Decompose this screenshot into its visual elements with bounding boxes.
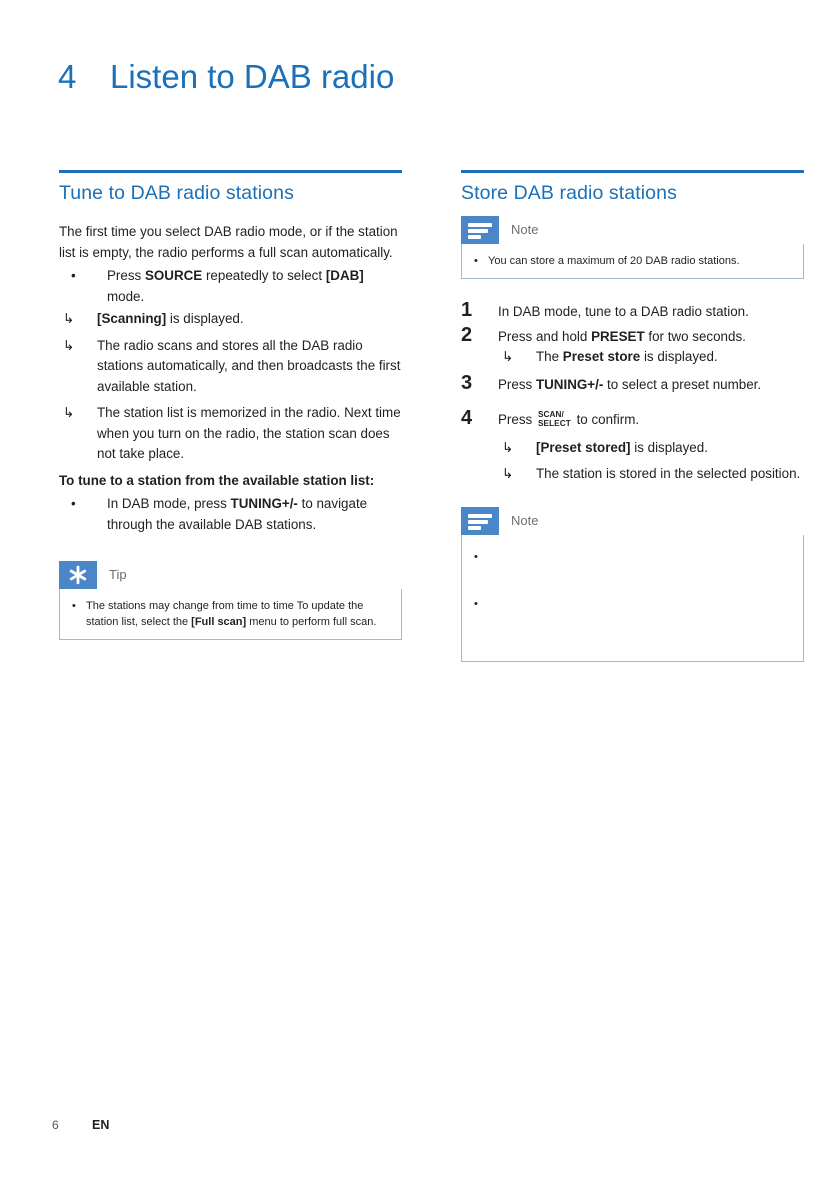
step-text-2: to confirm. <box>573 412 639 427</box>
step-text-1: In DAB mode, tune to a DAB radio station… <box>498 304 749 319</box>
step-text-1: Press and hold <box>498 329 591 344</box>
list-item <box>472 549 793 594</box>
list-item: You can store a maximum of 20 DAB radio … <box>472 253 793 269</box>
list-item: ↳ The station list is memorized in the r… <box>59 403 402 465</box>
list-item: 1 In DAB mode, tune to a DAB radio stati… <box>461 301 804 322</box>
display-scanning: [Scanning] <box>97 311 166 326</box>
scan-select-line-2: SELECT <box>538 419 571 428</box>
step-text-2: to select a preset number. <box>603 377 761 392</box>
note-callout-2-body <box>461 535 804 662</box>
note-item-list <box>472 549 793 641</box>
step-text: Press SCAN/SELECT to confirm. <box>498 409 804 430</box>
arrow-text: is displayed. <box>166 311 243 326</box>
arrow-text: The station list is memorized in the rad… <box>97 405 401 461</box>
intro-paragraph: The first time you select DAB radio mode… <box>59 222 402 263</box>
tip-callout-body: The stations may change from time to tim… <box>59 589 402 640</box>
arrow-marker: ↳ <box>502 464 513 485</box>
list-item: ↳ The station is stored in the selected … <box>498 464 804 485</box>
bullet-text-1: Press <box>107 268 145 283</box>
note-lines-icon <box>461 216 499 244</box>
arrow-text-1: The <box>536 349 563 364</box>
section-rule-right <box>461 170 804 173</box>
arrow-text-1: The station is stored in the selected po… <box>536 466 800 481</box>
bullet-marker: • <box>71 494 76 515</box>
page-number: 6 <box>52 1118 92 1132</box>
note-callout-1: Note You can store a maximum of 20 DAB r… <box>461 216 804 279</box>
chapter-heading: Listen to DAB radio <box>110 54 394 100</box>
store-steps-list: 1 In DAB mode, tune to a DAB radio stati… <box>461 301 804 485</box>
list-item: • In DAB mode, press TUNING+/- to naviga… <box>59 494 402 535</box>
note-callout-2-header: Note <box>461 507 804 535</box>
step-number: 2 <box>461 323 472 347</box>
scan-select-line-1: SCAN/ <box>538 410 571 419</box>
arrow-text: The radio scans and stores all the DAB r… <box>97 338 400 394</box>
language-code: EN <box>92 1118 109 1132</box>
arrow-list-scan-results: ↳ [Scanning] is displayed. ↳ The radio s… <box>59 309 402 465</box>
list-item: 3 Press TUNING+/- to select a preset num… <box>461 374 804 395</box>
arrow-marker: ↳ <box>63 336 74 357</box>
note-icon-bar <box>468 520 488 524</box>
section-rule-left <box>59 170 402 173</box>
arrow-marker: ↳ <box>63 309 74 330</box>
document-page: 4 Listen to DAB radio Tune to DAB radio … <box>0 0 840 1190</box>
keyword-tuning: TUNING+/- <box>231 496 298 511</box>
right-column: Store DAB radio stations Note You can st… <box>461 170 804 662</box>
list-item: ↳ [Preset stored] is displayed. <box>498 438 804 459</box>
note-lines-icon <box>461 507 499 535</box>
note-text: You can store a maximum of 20 DAB radio … <box>488 255 740 267</box>
bullet-text-1: In DAB mode, press <box>107 496 231 511</box>
step-text-1: Press <box>498 377 536 392</box>
keyword-tuning: TUNING+/- <box>536 377 603 392</box>
list-item <box>472 596 793 641</box>
note-icon-bar <box>468 223 492 227</box>
note-callout-2-label: Note <box>511 507 538 535</box>
tip-item-list: The stations may change from time to tim… <box>70 598 391 630</box>
section-heading-tune: Tune to DAB radio stations <box>59 180 402 206</box>
step-number: 3 <box>461 371 472 395</box>
bullet-text-2: repeatedly to select <box>202 268 326 283</box>
tip-callout-header: Tip <box>59 561 402 589</box>
step-text: Press TUNING+/- to select a preset numbe… <box>498 374 804 395</box>
note-callout-1-label: Note <box>511 216 538 244</box>
arrow-marker: ↳ <box>502 438 513 459</box>
bullet-text-3: mode. <box>107 289 144 304</box>
step-text: Press and hold PRESET for two seconds. <box>498 326 804 347</box>
note-icon-bar <box>468 514 492 518</box>
list-item: ↳ The radio scans and stores all the DAB… <box>59 336 402 398</box>
subheading-tune-from-list: To tune to a station from the available … <box>59 471 402 492</box>
arrow-list-step4: ↳ [Preset stored] is displayed. ↳ The st… <box>498 438 804 485</box>
note-item-list: You can store a maximum of 20 DAB radio … <box>472 253 793 269</box>
tip-text-2: menu to perform full scan. <box>246 616 376 628</box>
button-scan-select: SCAN/SELECT <box>538 410 571 428</box>
chapter-number: 4 <box>58 54 110 100</box>
step-text-2: for two seconds. <box>645 329 746 344</box>
asterisk-icon <box>59 561 97 589</box>
list-item: • Press SOURCE repeatedly to select [DAB… <box>59 266 402 307</box>
left-column: Tune to DAB radio stations The first tim… <box>59 170 402 640</box>
chapter-title-block: 4 Listen to DAB radio <box>58 54 448 100</box>
bullet-list-tuning: • In DAB mode, press TUNING+/- to naviga… <box>59 494 402 535</box>
step-text-1: Press <box>498 412 536 427</box>
arrow-text-2: is displayed. <box>631 440 708 455</box>
step-number: 4 <box>461 406 472 430</box>
bullet-marker: • <box>71 266 76 287</box>
page-footer: 6 EN <box>52 1118 109 1132</box>
keyword-preset: PRESET <box>591 329 645 344</box>
note-icon-bar <box>468 235 481 239</box>
step-number: 1 <box>461 298 472 322</box>
note-callout-2: Note <box>461 507 804 662</box>
display-preset-store: Preset store <box>563 349 640 364</box>
menu-full-scan: [Full scan] <box>191 616 246 628</box>
tip-callout: Tip The stations may change from time to… <box>59 561 402 640</box>
bullet-list-source: • Press SOURCE repeatedly to select [DAB… <box>59 266 402 307</box>
keyword-dab: [DAB] <box>326 268 364 283</box>
step-text: In DAB mode, tune to a DAB radio station… <box>498 301 804 322</box>
keyword-source: SOURCE <box>145 268 202 283</box>
list-item: The stations may change from time to tim… <box>70 598 391 630</box>
list-item: 4 Press SCAN/SELECT to confirm. ↳ [Prese… <box>461 409 804 485</box>
section-heading-store: Store DAB radio stations <box>461 180 804 206</box>
list-item: ↳ The Preset store is displayed. <box>498 347 804 368</box>
arrow-text-2: is displayed. <box>640 349 717 364</box>
list-item: 2 Press and hold PRESET for two seconds.… <box>461 326 804 368</box>
list-item: ↳ [Scanning] is displayed. <box>59 309 402 330</box>
note-callout-1-header: Note <box>461 216 804 244</box>
display-preset-stored: [Preset stored] <box>536 440 631 455</box>
tip-callout-label: Tip <box>109 561 127 589</box>
note-icon-bar <box>468 526 481 530</box>
note-icon-bar <box>468 229 488 233</box>
note-callout-1-body: You can store a maximum of 20 DAB radio … <box>461 244 804 279</box>
arrow-marker: ↳ <box>502 347 513 368</box>
arrow-marker: ↳ <box>63 403 74 424</box>
arrow-list-step2: ↳ The Preset store is displayed. <box>498 347 804 368</box>
